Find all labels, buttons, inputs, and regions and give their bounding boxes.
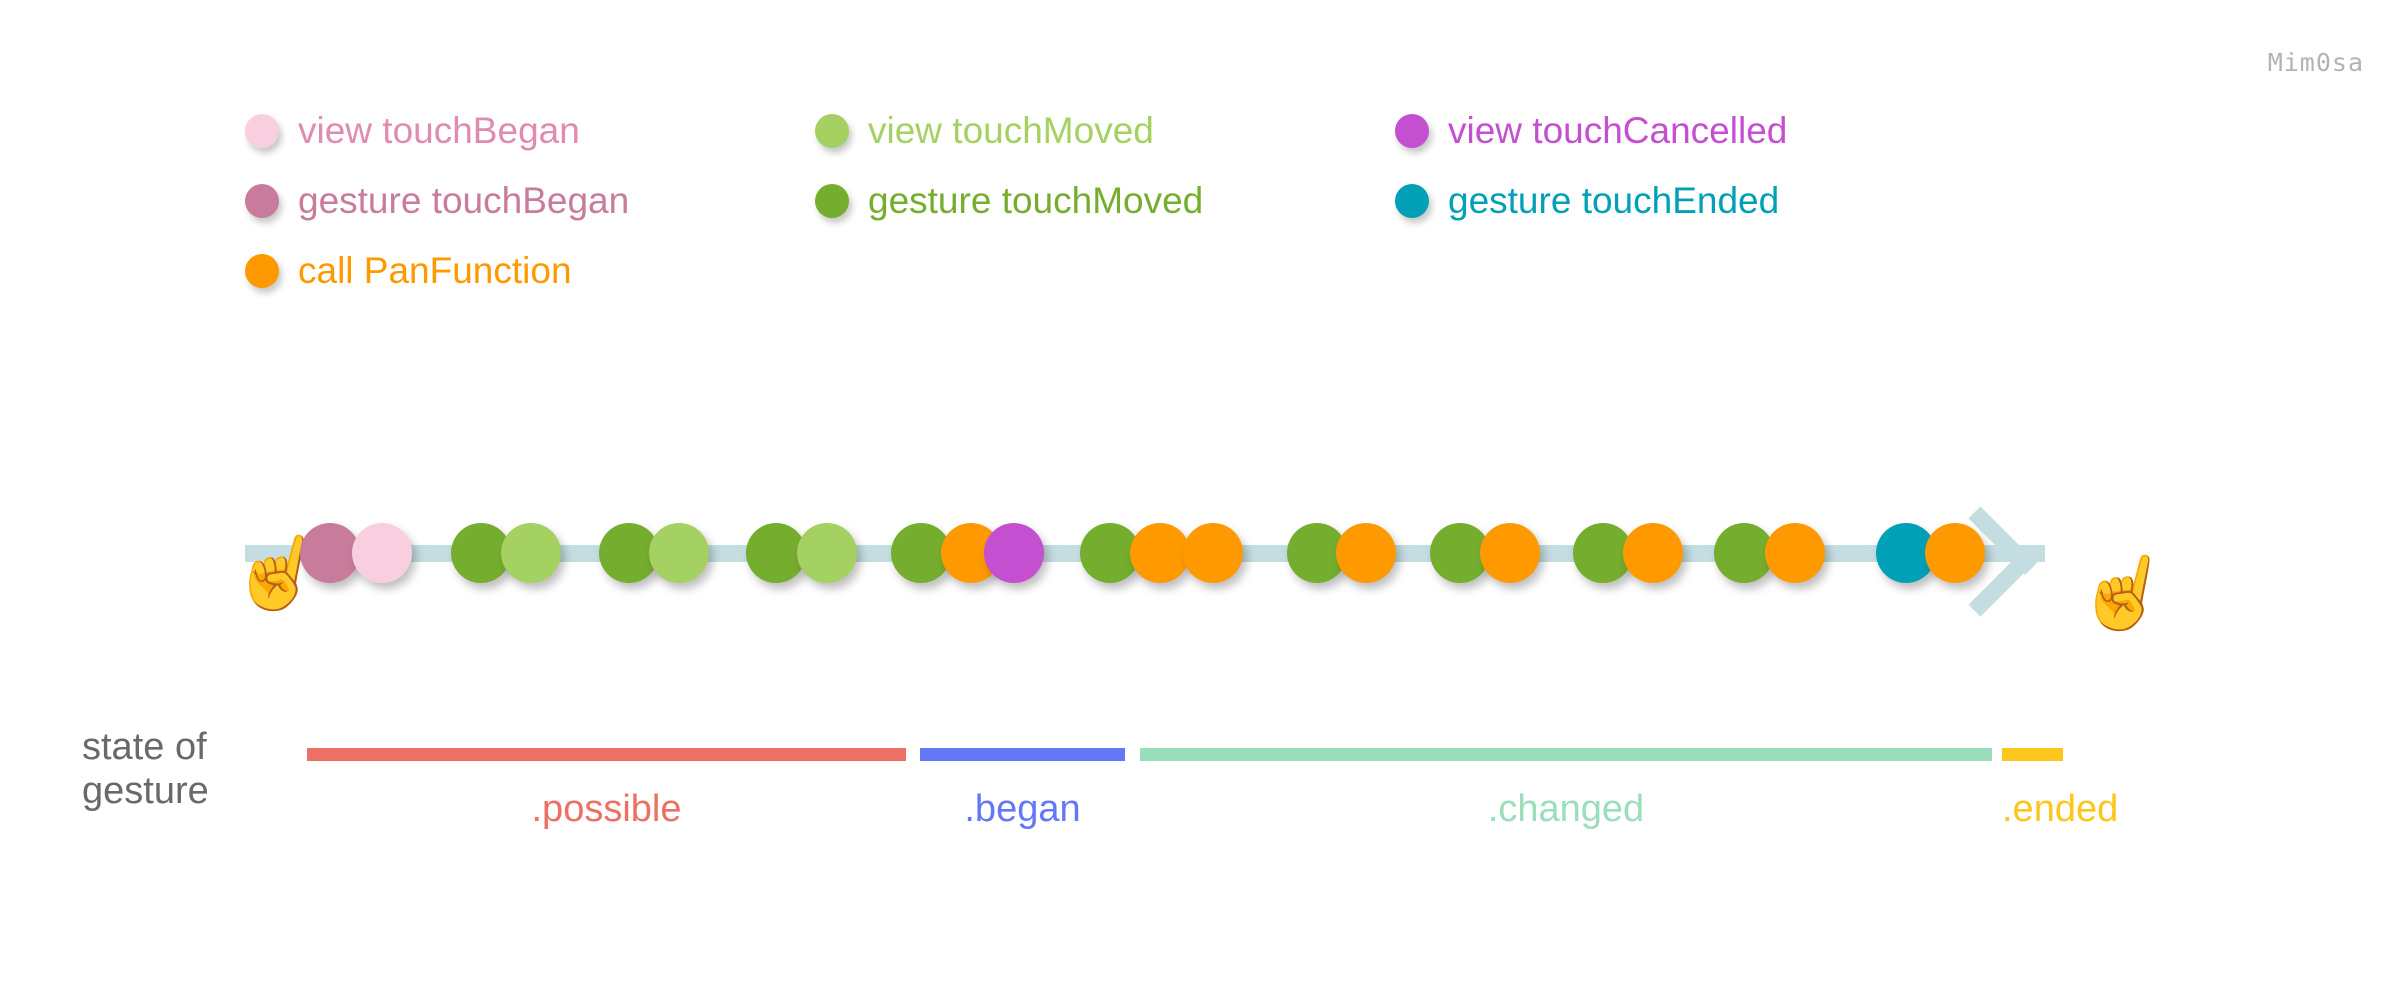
timeline-event-dot [1714, 523, 1774, 583]
state-segment-began [920, 748, 1125, 761]
watermark: Mim0sa [2268, 48, 2364, 77]
timeline-event-dot [1183, 523, 1243, 583]
circle-marker-icon [815, 114, 849, 148]
timeline-arrow-icon-lower [1968, 548, 2037, 617]
legend-item-label: gesture touchEnded [1448, 182, 1779, 219]
timeline-event-dot [1765, 523, 1825, 583]
timeline-event-dot [1130, 523, 1190, 583]
state-segment-possible [307, 748, 906, 761]
timeline-event-dot [599, 523, 659, 583]
legend-item-label: view touchCancelled [1448, 112, 1787, 149]
legend-item-label: view touchBegan [298, 112, 580, 149]
timeline-event-dot [649, 523, 709, 583]
state-segment-possible-label: .possible [307, 790, 906, 828]
state-segment-changed-label: .changed [1140, 790, 1992, 828]
timeline-event-dot [941, 523, 1001, 583]
pointing-hand-start-icon: ☝ [225, 526, 331, 618]
timeline-event-dot [451, 523, 511, 583]
legend-gesture-touchbegan: gesture touchBegan [245, 182, 629, 219]
timeline-event-dot [891, 523, 951, 583]
legend-gesture-touchended: gesture touchEnded [1395, 182, 1779, 219]
timeline-track [245, 545, 2045, 562]
timeline-event-dot [1876, 523, 1936, 583]
state-caption-line1: state of [82, 725, 292, 769]
timeline-event-dot [300, 523, 360, 583]
legend-view-touchbegan: view touchBegan [245, 112, 580, 149]
timeline-event-dot [797, 523, 857, 583]
legend-item-label: view touchMoved [868, 112, 1154, 149]
legend-item-label: gesture touchMoved [868, 182, 1203, 219]
legend-row: view touchBeganview touchMovedview touch… [245, 112, 1995, 182]
legend-view-touchmoved: view touchMoved [815, 112, 1154, 149]
timeline-event-dot [1480, 523, 1540, 583]
timeline-event-dot [1080, 523, 1140, 583]
state-segment-changed [1140, 748, 1992, 761]
circle-marker-icon [1395, 114, 1429, 148]
legend-gesture-touchmoved: gesture touchMoved [815, 182, 1203, 219]
legend-item-label: call PanFunction [298, 252, 572, 289]
timeline-event-dot [1287, 523, 1347, 583]
timeline-event-dot [501, 523, 561, 583]
legend-row: gesture touchBegangesture touchMovedgest… [245, 182, 1995, 252]
pointing-hand-end-icon: ☝ [2071, 546, 2177, 638]
timeline-event-dot [1430, 523, 1490, 583]
legend-call-panfunction: call PanFunction [245, 252, 572, 289]
timeline-event-dot [984, 523, 1044, 583]
circle-marker-icon [1395, 184, 1429, 218]
timeline-event-dot [1336, 523, 1396, 583]
circle-marker-icon [815, 184, 849, 218]
timeline-arrow-icon [1968, 506, 2037, 575]
legend: view touchBeganview touchMovedview touch… [245, 112, 1995, 322]
state-segment-ended-label: .ended [2002, 790, 2063, 828]
circle-marker-icon [245, 254, 279, 288]
timeline-event-dot [1573, 523, 1633, 583]
state-caption-line2: gesture [82, 769, 292, 813]
circle-marker-icon [245, 184, 279, 218]
state-segment-began-label: .began [920, 790, 1125, 828]
state-caption: state of gesture [82, 725, 292, 814]
legend-item-label: gesture touchBegan [298, 182, 629, 219]
legend-row: call PanFunction [245, 252, 1995, 322]
timeline-event-dot [352, 523, 412, 583]
timeline-event-dot [1623, 523, 1683, 583]
timeline-event-dot [746, 523, 806, 583]
circle-marker-icon [245, 114, 279, 148]
timeline-event-dot [1925, 523, 1985, 583]
legend-view-touchcancelled: view touchCancelled [1395, 112, 1787, 149]
state-segment-ended [2002, 748, 2063, 761]
